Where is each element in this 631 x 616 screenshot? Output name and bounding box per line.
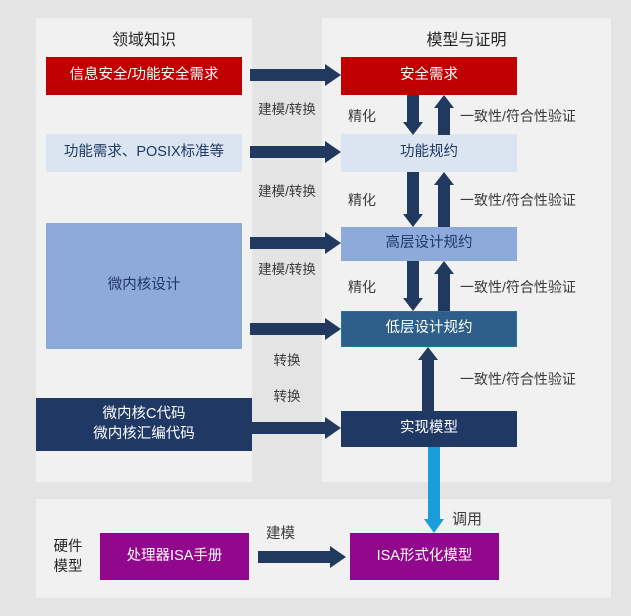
arrow-head-down-icon [403,122,423,135]
arrow-verify-up-2 [434,172,454,227]
arrow-verify-up-3 [434,261,454,311]
label-hardware-model: 硬件 模型 [42,538,94,577]
box-safety-requirements[interactable]: 安全需求 [341,57,517,95]
arrow-head-up-icon [434,261,454,274]
label-modeling-transform-3: 建模/转换 [252,258,322,278]
box-isa-formal-model[interactable]: ISA形式化模型 [350,533,499,580]
arrow-transform-4 [250,318,341,340]
box-functional-specification[interactable]: 功能规约 [341,134,517,172]
arrow-verify-up-4 [418,347,438,411]
arrow-head-up-icon [434,95,454,108]
label-verify-3: 一致性/符合性验证 [460,277,576,297]
arrow-modeling-transform-3 [250,232,341,254]
arrow-head-right-icon [330,546,346,568]
arrow-head-down-icon [424,519,444,533]
label-modeling-bottom: 建模 [266,522,295,543]
arrow-head-right-icon [325,141,341,163]
arrow-head-right-icon [325,64,341,86]
arrow-transform-5 [250,417,341,439]
box-microkernel-code[interactable]: 微内核C代码 微内核汇编代码 [36,398,252,451]
label-refine-3: 精化 [348,277,376,297]
arrow-shaft [250,323,325,335]
label-hardware-line1: 硬件 [42,538,94,558]
domain-knowledge-title: 领域知识 [36,26,252,50]
arrow-call-down [424,447,444,533]
label-hardware-line2: 模型 [42,558,94,578]
label-refine-2: 精化 [348,190,376,210]
arrow-modeling-bottom [258,546,346,568]
label-verify-1: 一致性/符合性验证 [460,106,576,126]
arrow-modeling-transform-1 [250,64,341,86]
arrow-shaft [407,95,419,122]
diagram-canvas: 领域知识 模型与证明 信息安全/功能安全需求 功能需求、POSIX标准等 微内核… [0,0,631,616]
arrow-shaft [250,69,325,81]
arrow-refine-down-3 [403,261,423,311]
arrow-head-down-icon [403,298,423,311]
arrow-shaft [250,422,325,434]
label-verify-4: 一致性/符合性验证 [460,369,576,389]
arrow-shaft [407,172,419,214]
arrow-shaft [438,274,450,311]
arrow-refine-down-1 [403,95,423,135]
arrow-verify-up-1 [434,95,454,135]
label-call: 调用 [452,508,482,529]
label-verify-2: 一致性/符合性验证 [460,190,576,210]
arrow-shaft [438,185,450,227]
label-modeling-transform-2: 建模/转换 [252,180,322,200]
label-refine-1: 精化 [348,106,376,126]
box-functional-requirements-posix[interactable]: 功能需求、POSIX标准等 [46,134,242,172]
label-transform-5: 转换 [252,385,322,405]
arrow-head-up-icon [434,172,454,185]
arrow-shaft [428,447,440,519]
arrow-refine-down-2 [403,172,423,227]
arrow-head-up-icon [418,347,438,360]
arrow-shaft [407,261,419,298]
box-low-level-design-spec[interactable]: 低层设计规约 [341,311,517,347]
label-transform-4: 转换 [252,349,322,369]
arrow-head-down-icon [403,214,423,227]
arrow-head-right-icon [325,318,341,340]
box-processor-isa-manual[interactable]: 处理器ISA手册 [100,533,249,580]
box-high-level-design-spec[interactable]: 高层设计规约 [341,227,517,261]
arrow-shaft [422,360,434,411]
arrow-shaft [250,237,325,249]
arrow-shaft [258,551,330,563]
arrow-shaft [250,146,325,158]
arrow-head-right-icon [325,232,341,254]
box-security-safety-requirements[interactable]: 信息安全/功能安全需求 [46,57,242,95]
microkernel-asm-code-line: 微内核汇编代码 [93,425,195,445]
arrow-head-right-icon [325,417,341,439]
models-and-proofs-title: 模型与证明 [322,26,611,50]
box-microkernel-design[interactable]: 微内核设计 [46,223,242,349]
box-implementation-model[interactable]: 实现模型 [341,411,517,447]
arrow-modeling-transform-2 [250,141,341,163]
microkernel-c-code-line: 微内核C代码 [93,405,195,425]
label-modeling-transform-1: 建模/转换 [252,98,322,118]
arrow-shaft [438,108,450,135]
